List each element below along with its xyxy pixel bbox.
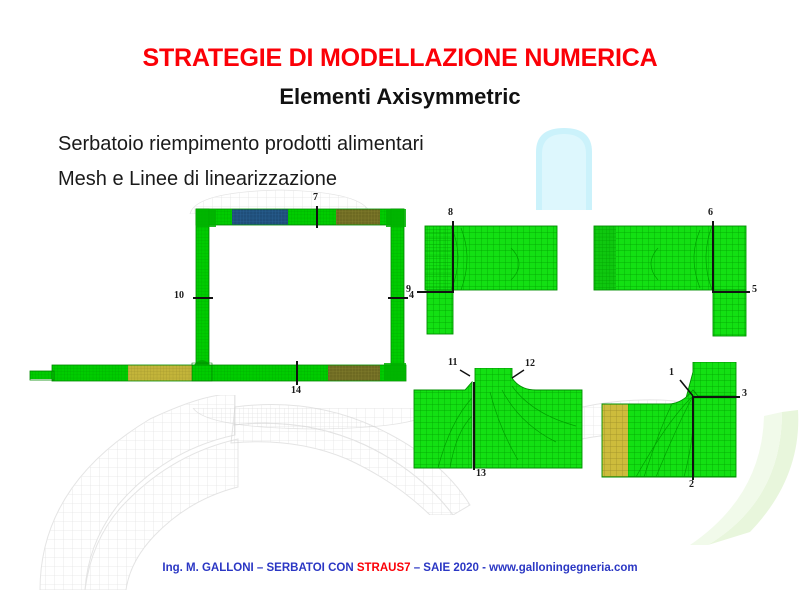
label-1: 1	[669, 368, 674, 378]
figure-main-tank-section: 7 10 4 14	[16, 205, 416, 405]
tank-bottom-base-plate	[30, 360, 406, 381]
mesh-body-bottom-left	[414, 368, 582, 468]
mesh-body-top-right	[594, 226, 746, 336]
label-8: 8	[448, 208, 453, 218]
linearization-line-3	[692, 396, 740, 398]
linearization-line-9	[417, 291, 453, 293]
linearization-line-10	[193, 297, 213, 299]
slide-footer: Ing. M. GALLONI – SERBATOI CON STRAUS7 –…	[0, 562, 800, 574]
linearization-line-5	[712, 291, 750, 293]
tank-corner-knuckles	[196, 209, 406, 381]
label-11: 11	[448, 358, 457, 368]
label-2: 2	[689, 480, 694, 490]
label-7: 7	[313, 193, 318, 203]
tank-left-wall	[196, 209, 209, 372]
linearization-line-8	[452, 221, 454, 293]
label-10: 10	[174, 291, 184, 301]
label-13: 13	[476, 469, 486, 479]
figure-detail-top-right: 6 5	[588, 208, 763, 348]
linearization-line-13	[473, 382, 475, 470]
footer-text-before: Ing. M. GALLONI – SERBATOI CON	[162, 562, 356, 574]
label-9: 9	[406, 285, 411, 295]
label-14: 14	[291, 386, 301, 396]
label-3: 3	[742, 389, 747, 399]
figure-detail-bottom-right: 2 3 1	[598, 362, 773, 497]
ghost-tank-silhouette-icon	[528, 124, 600, 210]
presentation-slide: STRATEGIE DI MODELLAZIONE NUMERICA Eleme…	[0, 0, 800, 600]
linearization-line-7	[316, 206, 318, 228]
mesh-body-top-left	[425, 226, 557, 334]
footer-highlight-straus7: STRAUS7	[357, 562, 411, 574]
mesh-body-bottom-right	[602, 362, 736, 477]
figure-detail-bottom-left: 13 11 12	[408, 368, 588, 493]
linearization-line-4	[388, 297, 408, 299]
linearization-line-6	[712, 221, 714, 293]
label-5: 5	[752, 285, 757, 295]
figure-detail-top-left: 8 9	[415, 208, 585, 348]
page-title: STRATEGIE DI MODELLAZIONE NUMERICA	[0, 44, 800, 73]
label-6: 6	[708, 208, 713, 218]
label-12: 12	[525, 359, 535, 369]
tank-top-wall	[196, 209, 404, 225]
linearization-line-2	[692, 396, 694, 480]
linearization-line-14	[296, 361, 298, 385]
bullet-line-1: Serbatoio riempimento prodotti alimentar…	[58, 133, 424, 156]
footer-text-after: – SAIE 2020 - www.galloningegneria.com	[411, 562, 638, 574]
bullet-line-2: Mesh e Linee di linearizzazione	[58, 168, 337, 191]
page-subtitle: Elementi Axisymmetric	[0, 84, 800, 110]
tank-right-wall	[391, 209, 404, 372]
background-3d-mesh-bottom-strip	[185, 408, 445, 430]
